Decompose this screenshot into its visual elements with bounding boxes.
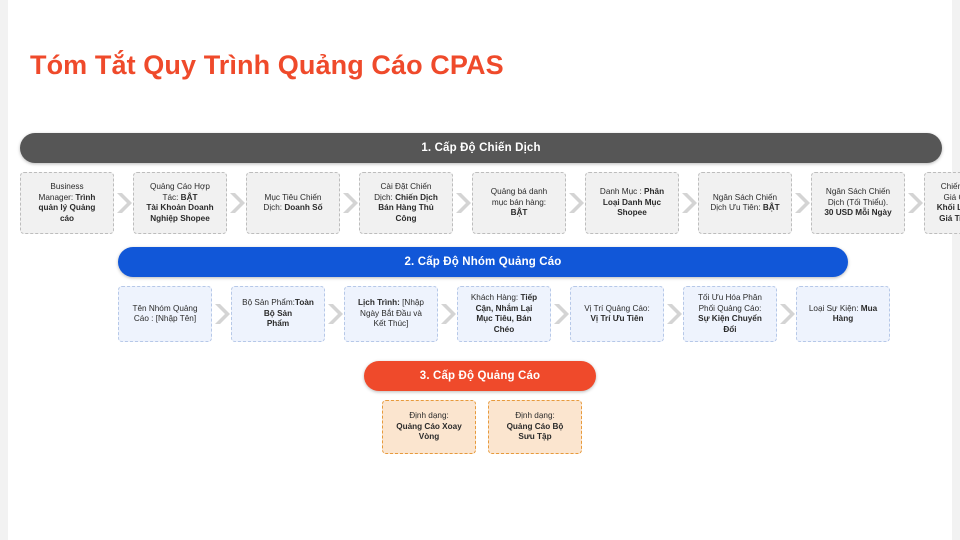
flow-node[interactable]: Tên Nhóm QuảngCáo : [Nhập Tên]	[118, 286, 212, 342]
flow-node-label: Lịch Trình: [NhậpNgày Bắt Đầu vàKết Thúc…	[358, 298, 424, 330]
flow-node[interactable]: Định dạng:Quảng Cáo BộSưu Tập	[488, 400, 582, 454]
flow-row-campaign-level: BusinessManager: Trìnhquản lý QuảngcáoQu…	[20, 172, 960, 234]
flow-node[interactable]: Ngân Sách ChiếnDịch (Tối Thiểu).30 USD M…	[811, 172, 905, 234]
chevron-right-icon	[679, 172, 698, 234]
chevron-right-icon	[551, 286, 570, 342]
chevron-right-icon	[792, 172, 811, 234]
chevron-right-icon	[777, 286, 796, 342]
flow-node[interactable]: Vị Trí Quảng Cáo:Vị Trí Ưu Tiên	[570, 286, 664, 342]
chevron-right-icon	[325, 286, 344, 342]
flow-node-label: Định dạng:Quảng Cáo XoayVòng	[396, 411, 462, 443]
chevron-right-icon	[453, 172, 472, 234]
flow-node[interactable]: Bộ Sản Phẩm:Toàn Bộ SảnPhẩm	[231, 286, 325, 342]
flow-node[interactable]: Danh Mục : PhânLoại Danh MụcShopee	[585, 172, 679, 234]
flow-node[interactable]: Lịch Trình: [NhậpNgày Bắt Đầu vàKết Thúc…	[344, 286, 438, 342]
chevron-right-icon	[227, 172, 246, 234]
chevron-right-icon	[114, 172, 133, 234]
flow-node-label: Ngân Sách ChiếnDịch (Tối Thiểu).30 USD M…	[824, 187, 891, 219]
flow-node[interactable]: Chiến Lược ĐấuGiá Chiến DịchKhối Lượng h…	[924, 172, 960, 234]
section-banner-ad-level[interactable]: 3. Cấp Độ Quảng Cáo	[364, 361, 596, 391]
chevron-right-icon	[340, 172, 359, 234]
spacer	[476, 400, 488, 454]
section-banner-adset-level[interactable]: 2. Cấp Độ Nhóm Quảng Cáo	[118, 247, 848, 277]
flow-node-label: Quảng Cáo HợpTác: BẬTTài Khoản DoanhNghi…	[146, 182, 213, 224]
flow-node[interactable]: Ngân Sách ChiếnDịch Ưu Tiên: BẬT	[698, 172, 792, 234]
flow-node-label: Bộ Sản Phẩm:Toàn Bộ SảnPhẩm	[237, 298, 319, 330]
chevron-right-icon	[212, 286, 231, 342]
flow-node-label: Ngân Sách ChiếnDịch Ưu Tiên: BẬT	[710, 193, 779, 214]
flow-node[interactable]: Định dạng:Quảng Cáo XoayVòng	[382, 400, 476, 454]
flow-node[interactable]: BusinessManager: Trìnhquản lý Quảngcáo	[20, 172, 114, 234]
chevron-right-icon	[438, 286, 457, 342]
flow-node[interactable]: Loại Sự Kiện: MuaHàng	[796, 286, 890, 342]
flow-node-label: Quảng bá danhmục bán hàng:BẬT	[491, 187, 547, 219]
flow-row-adset-level: Tên Nhóm QuảngCáo : [Nhập Tên]Bộ Sản Phẩ…	[118, 286, 890, 342]
section-banner-campaign-level[interactable]: 1. Cấp Độ Chiến Dịch	[20, 133, 942, 163]
flow-node-label: Chiến Lược ĐấuGiá Chiến DịchKhối Lượng h…	[937, 182, 960, 224]
flow-node[interactable]: Cài Đặt ChiếnDịch: Chiến DịchBán Hàng Th…	[359, 172, 453, 234]
flow-node-label: Tối Ưu Hóa PhânPhối Quảng Cáo:Sự Kiện Ch…	[698, 293, 762, 335]
flow-node-label: Mục Tiêu ChiếnDịch: Doanh Số	[263, 193, 322, 214]
chevron-right-icon	[566, 172, 585, 234]
flow-row-ad-level: Định dạng:Quảng Cáo XoayVòngĐịnh dạng:Qu…	[382, 400, 582, 454]
flow-node-label: Vị Trí Quảng Cáo:Vị Trí Ưu Tiên	[584, 304, 650, 325]
flow-node[interactable]: Mục Tiêu ChiếnDịch: Doanh Số	[246, 172, 340, 234]
flow-node-label: Loại Sự Kiện: MuaHàng	[809, 304, 877, 325]
flow-node-label: BusinessManager: Trìnhquản lý Quảngcáo	[39, 182, 96, 224]
flow-node-label: Định dạng:Quảng Cáo BộSưu Tập	[507, 411, 564, 443]
page-title: Tóm Tắt Quy Trình Quảng Cáo CPAS	[30, 50, 504, 81]
flow-node-label: Cài Đặt ChiếnDịch: Chiến DịchBán Hàng Th…	[374, 182, 438, 224]
flow-node-label: Khách Hàng: TiếpCận, Nhắm LạiMục Tiêu, B…	[471, 293, 537, 335]
flow-node-label: Danh Mục : PhânLoại Danh MụcShopee	[600, 187, 664, 219]
chevron-right-icon	[664, 286, 683, 342]
flow-node[interactable]: Quảng Cáo HợpTác: BẬTTài Khoản DoanhNghi…	[133, 172, 227, 234]
flow-node-label: Tên Nhóm QuảngCáo : [Nhập Tên]	[132, 304, 197, 325]
chevron-right-icon	[905, 172, 924, 234]
flow-node[interactable]: Khách Hàng: TiếpCận, Nhắm LạiMục Tiêu, B…	[457, 286, 551, 342]
slide-canvas: Tóm Tắt Quy Trình Quảng Cáo CPAS 1. Cấp …	[8, 0, 952, 540]
flow-node[interactable]: Quảng bá danhmục bán hàng:BẬT	[472, 172, 566, 234]
flow-node[interactable]: Tối Ưu Hóa PhânPhối Quảng Cáo:Sự Kiện Ch…	[683, 286, 777, 342]
